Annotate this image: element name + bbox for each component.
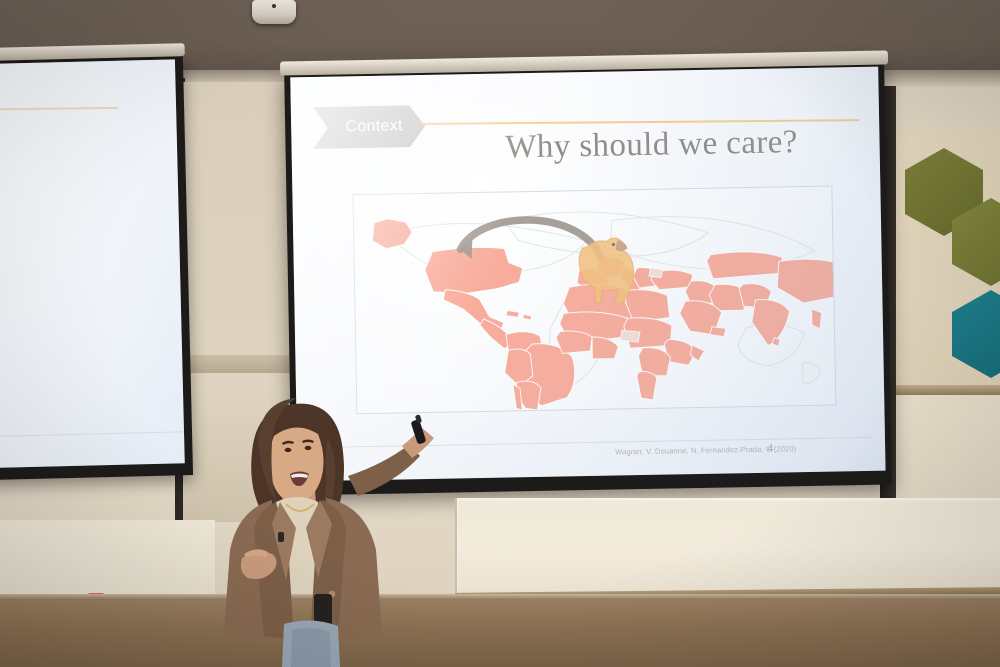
screenshot-root: . Fernandez-Prada, C (2020) 4 Context Wh… (0, 0, 1000, 667)
face (269, 427, 323, 502)
secondary-projection-screen: . Fernandez-Prada, C (2020) 4 (0, 55, 193, 485)
world-choropleth-map (353, 187, 835, 414)
lapel-microphone (278, 532, 284, 542)
slide-title: Why should we care? (441, 123, 862, 168)
map-frame (352, 186, 836, 415)
hex-panel-trim (895, 385, 1000, 395)
section-banner: Context (313, 105, 426, 149)
secondary-screen-surface: . Fernandez-Prada, C (2020) 4 (0, 59, 185, 472)
secondary-screen-glare (0, 59, 185, 472)
smoke-detector-icon (252, 0, 296, 24)
wainscot (0, 600, 1000, 667)
presenter (180, 398, 480, 667)
slide-page-number: 4 (767, 441, 773, 456)
section-banner-label: Context (335, 117, 403, 136)
pillar-band (183, 355, 298, 373)
